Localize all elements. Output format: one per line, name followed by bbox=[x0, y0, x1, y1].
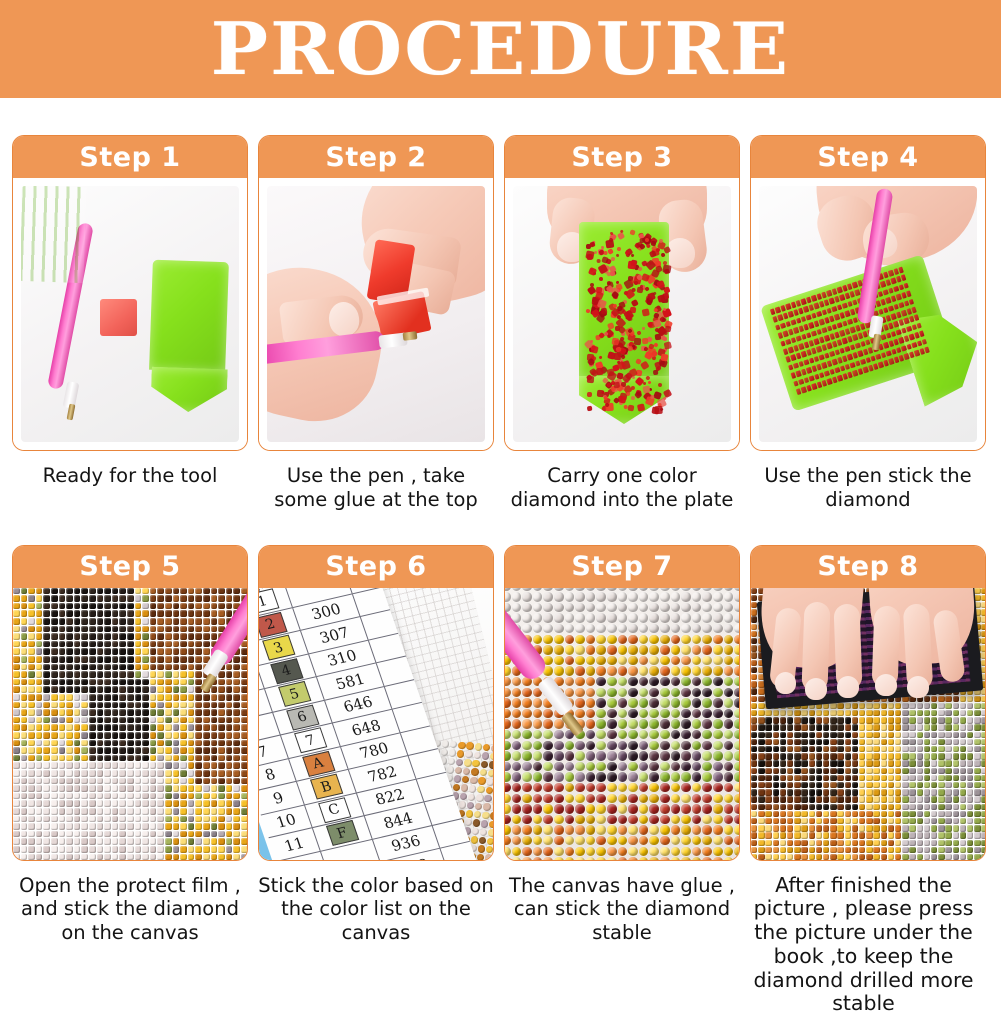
step-card-7[interactable]: Step 7 bbox=[504, 545, 740, 861]
step-7-caption: The canvas have glue , can stick the dia… bbox=[504, 874, 740, 945]
step-card-1[interactable]: Step 1 bbox=[12, 135, 248, 451]
step-4-badge: Step 4 bbox=[817, 142, 918, 173]
step-card-4[interactable]: Step 4 bbox=[750, 135, 986, 451]
step-card-5[interactable]: Step 5 bbox=[12, 545, 248, 861]
step-3-image bbox=[505, 178, 739, 450]
step-7-header: Step 7 bbox=[505, 546, 739, 588]
step-8-badge: Step 8 bbox=[817, 551, 918, 582]
step-3-caption: Carry one color diamond into the plate bbox=[504, 464, 740, 512]
step-4-illustration bbox=[759, 186, 977, 442]
steps-row-2: Step 5 Open the protect film , and stick… bbox=[0, 545, 1001, 1016]
step-6-caption: Stick the color based on the color list … bbox=[258, 874, 494, 945]
step-8-image bbox=[751, 588, 985, 860]
step-4-header: Step 4 bbox=[751, 136, 985, 178]
step-8-illustration bbox=[751, 588, 985, 860]
step-6-illustration: SymbolSymbolDMC1122300333074431055581666… bbox=[259, 588, 493, 860]
steps-row-1: Step 1 bbox=[0, 135, 1001, 512]
step-6-header: Step 6 bbox=[259, 546, 493, 588]
step-cell-7: Step 7 The canvas have glue , can stick … bbox=[504, 545, 740, 1016]
step-7-badge: Step 7 bbox=[571, 551, 672, 582]
step-card-6[interactable]: Step 6 SymbolSymbolDMC112230033307443105… bbox=[258, 545, 494, 861]
step-7-image bbox=[505, 588, 739, 860]
step-cell-4: Step 4 bbox=[750, 135, 986, 512]
page-header-banner: PROCEDURE bbox=[0, 0, 1001, 98]
step-1-caption: Ready for the tool bbox=[12, 464, 248, 488]
step-5-badge: Step 5 bbox=[79, 551, 180, 582]
step-2-badge: Step 2 bbox=[325, 142, 426, 173]
step-6-badge: Step 6 bbox=[325, 551, 426, 582]
step-4-caption: Use the pen stick the diamond bbox=[750, 464, 986, 512]
step-1-image bbox=[13, 178, 247, 450]
step-cell-8: Step 8 bbox=[750, 545, 986, 1016]
step-1-illustration bbox=[21, 186, 239, 442]
step-cell-5: Step 5 Open the protect film , and stick… bbox=[12, 545, 248, 1016]
step-5-image bbox=[13, 588, 247, 860]
step-2-image bbox=[259, 178, 493, 450]
step-card-8[interactable]: Step 8 bbox=[750, 545, 986, 861]
step-8-header: Step 8 bbox=[751, 546, 985, 588]
red-diamonds bbox=[513, 186, 731, 442]
page-title: PROCEDURE bbox=[211, 13, 791, 85]
step-2-caption: Use the pen , take some glue at the top bbox=[258, 464, 494, 512]
step-6-image: SymbolSymbolDMC1122300333074431055581666… bbox=[259, 588, 493, 860]
step-5-header: Step 5 bbox=[13, 546, 247, 588]
step-3-header: Step 3 bbox=[505, 136, 739, 178]
step-cell-3: Step 3 bbox=[504, 135, 740, 512]
step-5-caption: Open the protect film , and stick the di… bbox=[12, 874, 248, 945]
step-4-image bbox=[751, 178, 985, 450]
square-drill-mosaic bbox=[13, 588, 247, 860]
step-2-header: Step 2 bbox=[259, 136, 493, 178]
round-drill-mosaic bbox=[505, 588, 739, 860]
step-1-badge: Step 1 bbox=[79, 142, 180, 173]
step-card-2[interactable]: Step 2 bbox=[258, 135, 494, 451]
step-8-caption: After finished the picture , please pres… bbox=[737, 874, 991, 1016]
step-2-illustration bbox=[267, 186, 485, 442]
step-7-illustration bbox=[505, 588, 739, 860]
step-cell-2: Step 2 bbox=[258, 135, 494, 512]
step-card-3[interactable]: Step 3 bbox=[504, 135, 740, 451]
steps-grid: Step 1 bbox=[0, 135, 1001, 1016]
step-cell-6: Step 6 SymbolSymbolDMC112230033307443105… bbox=[258, 545, 494, 1016]
step-1-header: Step 1 bbox=[13, 136, 247, 178]
step-cell-1: Step 1 bbox=[12, 135, 248, 512]
step-3-illustration bbox=[513, 186, 731, 442]
step-5-illustration bbox=[13, 588, 247, 860]
step-3-badge: Step 3 bbox=[571, 142, 672, 173]
